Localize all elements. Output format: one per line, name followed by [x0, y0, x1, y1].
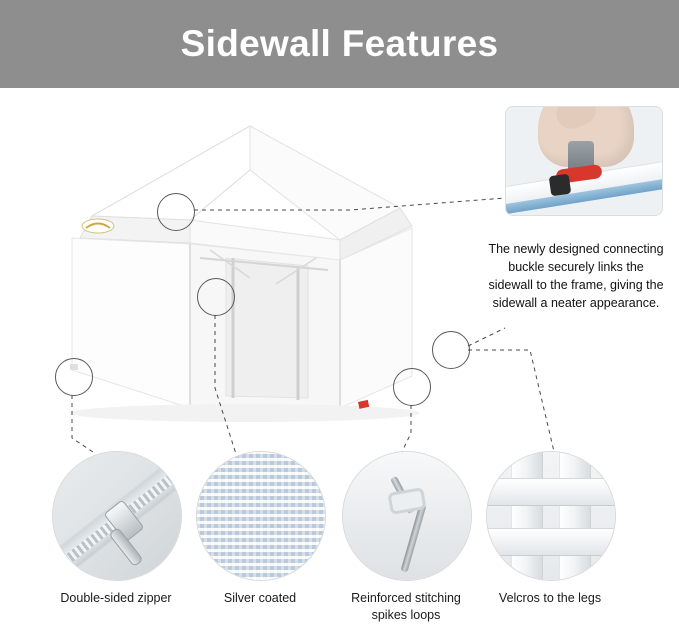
velcro-wrap-bottom	[486, 528, 616, 556]
callout-velcro-legs	[486, 451, 616, 581]
callout-reinforced-stitching	[342, 451, 472, 581]
velcro-wrap-top	[486, 478, 616, 506]
legs-background	[487, 452, 615, 580]
caption-velcro-legs: Velcros to the legs	[460, 590, 640, 607]
caption-line-1: Reinforced stitching	[351, 591, 461, 605]
buckle-description: The newly designed connecting buckle sec…	[488, 240, 664, 313]
leg-post-left	[511, 451, 543, 581]
caption-line-2: spikes loops	[372, 608, 441, 622]
fabric-weave-texture	[197, 452, 325, 580]
black-clip	[549, 174, 572, 197]
page-title: Sidewall Features	[0, 0, 679, 88]
leg-post-right	[559, 451, 591, 581]
callout-double-sided-zipper	[52, 451, 182, 581]
thumb	[552, 106, 600, 133]
callout-silver-coated	[196, 451, 326, 581]
image-stage: The newly designed connecting buckle sec…	[0, 88, 679, 641]
header-banner: Sidewall Features	[0, 0, 679, 88]
screenshot-root: Sidewall Features	[0, 0, 679, 641]
callout-buckle-photo	[505, 106, 663, 216]
